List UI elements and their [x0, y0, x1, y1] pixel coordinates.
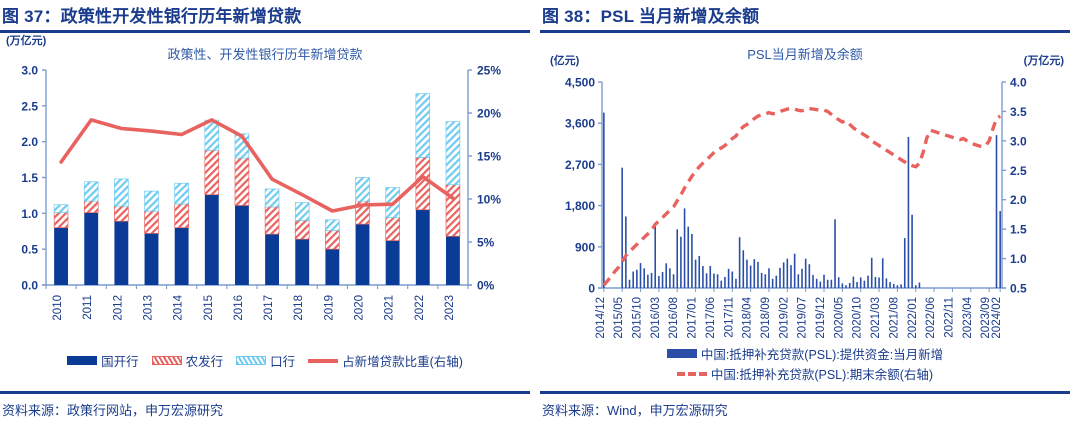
x-tick-label: 2017/01	[687, 297, 699, 339]
bar-psl-monthly	[665, 263, 667, 288]
bar-psl-monthly	[651, 273, 653, 288]
bar-psl-monthly	[687, 227, 689, 288]
bar-nfh	[325, 231, 339, 250]
svg-text:0%: 0%	[477, 279, 495, 293]
bar-gkh	[175, 228, 189, 285]
figure-pair-page: 图 37：政策性开发性银行历年新增贷款 政策性、开发性银行历年新增贷款 (万亿元…	[0, 0, 1080, 425]
bar-psl-monthly	[798, 274, 800, 288]
x-tick-label: 2019	[323, 295, 335, 321]
bar-psl-monthly	[779, 268, 781, 288]
x-tick-label: 2014/12	[595, 297, 607, 339]
figure-37-source: 资料来源：政策行网站，申万宏源研究	[2, 400, 223, 419]
bar-psl-monthly	[643, 268, 645, 288]
bar-kh	[265, 189, 279, 207]
figure-38-chart: PSL当月新增及余额 (亿元) (万亿元) 09001,8002,7003,60…	[540, 30, 1070, 360]
x-tick-label: 2019/07	[797, 297, 809, 339]
line-psl-balance	[604, 109, 1000, 286]
svg-text:0.0: 0.0	[21, 279, 38, 293]
svg-text:3.0: 3.0	[1010, 134, 1027, 148]
bar-kh	[175, 183, 189, 204]
bar-psl-monthly	[757, 262, 759, 288]
svg-text:1.5: 1.5	[1010, 223, 1027, 237]
figure-38-plot: 09001,8002,7003,6004,5000.51.01.52.02.53…	[540, 30, 1070, 360]
x-tick-label: 2012	[112, 295, 124, 321]
bar-psl-monthly	[889, 282, 891, 288]
legend-item: 口行	[236, 351, 295, 370]
bar-psl-monthly	[845, 285, 847, 288]
x-tick-label: 2017	[263, 295, 275, 321]
bar-nfh	[446, 185, 460, 237]
svg-text:3.5: 3.5	[1010, 105, 1027, 119]
bar-psl-monthly	[867, 276, 869, 288]
svg-text:15%: 15%	[477, 150, 501, 164]
bar-psl-monthly	[911, 215, 913, 288]
bar-psl-monthly	[765, 274, 767, 288]
bar-gkh	[205, 195, 219, 285]
bar-psl-monthly	[853, 277, 855, 288]
x-tick-label: 2022/01	[907, 297, 919, 339]
bar-psl-monthly	[820, 282, 822, 288]
bar-psl-monthly	[871, 258, 873, 288]
x-tick-label: 2013	[143, 295, 155, 321]
bar-psl-monthly	[893, 284, 895, 288]
bar-nfh	[84, 201, 98, 212]
x-tick-label: 2020/05	[833, 297, 845, 339]
bar-nfh	[145, 211, 159, 233]
figure-38-legend: 中国:抵押补充贷款(PSL):提供资金:当月新增中国:抵押补充贷款(PSL):期…	[540, 344, 1070, 383]
x-tick-label: 2016	[233, 295, 245, 321]
legend-item: 农发行	[152, 351, 224, 370]
legend-swatch-0	[67, 356, 97, 365]
svg-text:10%: 10%	[477, 193, 501, 207]
bar-psl-monthly	[702, 266, 704, 288]
svg-text:4,500: 4,500	[565, 76, 595, 90]
bar-psl-monthly	[915, 285, 917, 288]
legend-label: 中国:抵押补充贷款(PSL):提供资金:当月新增	[701, 344, 943, 363]
legend-item: 中国:抵押补充贷款(PSL):期末余额(右轴)	[677, 364, 933, 383]
legend-label: 口行	[270, 351, 295, 370]
bar-psl-monthly	[809, 264, 811, 288]
bar-psl-monthly	[753, 259, 755, 288]
x-tick-label: 2015/05	[613, 297, 625, 339]
svg-text:2.5: 2.5	[1010, 164, 1027, 178]
bar-psl-monthly	[882, 258, 884, 288]
bar-nfh	[114, 206, 128, 221]
bar-psl-monthly	[831, 280, 833, 288]
figure-37-chart: 政策性、开发性银行历年新增贷款 (万亿元) 0.00.51.01.52.02.5…	[0, 30, 530, 360]
bar-psl-monthly	[717, 274, 719, 288]
legend-swatch-1	[152, 356, 182, 365]
bar-psl-monthly	[724, 277, 726, 288]
bar-kh	[446, 122, 460, 185]
legend-swatch-3	[308, 359, 338, 363]
bar-psl-monthly	[654, 225, 656, 288]
bar-psl-monthly	[709, 266, 711, 288]
bar-psl-monthly	[640, 263, 642, 288]
bar-gkh	[356, 224, 370, 285]
figure-37-legend: 国开行农发行口行占新增贷款比重(右轴)	[0, 351, 530, 370]
bar-psl-monthly	[728, 269, 730, 288]
bar-psl-monthly	[900, 284, 902, 288]
bar-psl-monthly	[698, 256, 700, 288]
bar-psl-monthly	[684, 208, 686, 288]
bar-psl-monthly	[842, 283, 844, 288]
svg-text:0.5: 0.5	[1010, 282, 1027, 296]
bar-gkh	[325, 249, 339, 285]
x-tick-label: 2016/08	[668, 297, 680, 339]
x-tick-label: 2015/10	[632, 297, 644, 339]
x-tick-label: 2021/03	[870, 297, 882, 339]
legend-swatch-1	[677, 372, 707, 376]
legend-label: 中国:抵押补充贷款(PSL):期末余额(右轴)	[711, 364, 933, 383]
bar-psl-monthly	[629, 280, 631, 288]
bar-psl-monthly	[739, 237, 741, 288]
bar-nfh	[54, 213, 68, 228]
bar-nfh	[295, 221, 309, 240]
bar-gkh	[114, 221, 128, 285]
bar-psl-monthly	[713, 274, 715, 288]
bar-psl-monthly	[768, 268, 770, 288]
bar-psl-monthly	[790, 265, 792, 288]
bar-psl-monthly	[919, 283, 921, 288]
svg-text:4.0: 4.0	[1010, 76, 1027, 90]
svg-text:2.5: 2.5	[21, 99, 38, 113]
bar-psl-monthly	[860, 277, 862, 288]
x-tick-label: 2019/12	[815, 297, 827, 339]
legend-swatch-2	[236, 356, 266, 365]
bar-gkh	[446, 236, 460, 285]
x-tick-label: 2017/06	[705, 297, 717, 339]
bar-psl-monthly	[731, 272, 733, 288]
figure-38-source: 资料来源：Wind，申万宏源研究	[542, 400, 728, 419]
bar-kh	[84, 182, 98, 201]
legend-item: 占新增贷款比重(右轴)	[308, 351, 463, 370]
bar-nfh	[175, 204, 189, 228]
bar-psl-monthly	[875, 277, 877, 288]
bar-psl-monthly	[794, 254, 796, 288]
svg-text:0.5: 0.5	[21, 243, 38, 257]
bar-psl-monthly	[801, 269, 803, 288]
bar-psl-monthly	[676, 229, 678, 288]
bar-psl-monthly	[750, 266, 752, 288]
bar-kh	[205, 120, 219, 150]
bar-psl-monthly	[812, 275, 814, 288]
x-tick-label: 2017/11	[723, 297, 735, 338]
bar-psl-monthly	[680, 237, 682, 288]
bar-kh	[356, 178, 370, 202]
legend-swatch-0	[667, 349, 697, 358]
svg-text:20%: 20%	[477, 107, 501, 121]
x-tick-label: 2024/02	[991, 297, 1003, 339]
x-tick-label: 2020/10	[852, 297, 864, 339]
figure-37-title: 图 37：政策性开发性银行历年新增贷款	[0, 0, 530, 30]
legend-item: 中国:抵押补充贷款(PSL):提供资金:当月新增	[667, 344, 943, 363]
figure-37-panel: 图 37：政策性开发性银行历年新增贷款 政策性、开发性银行历年新增贷款 (万亿元…	[0, 0, 530, 425]
bar-psl-monthly	[999, 211, 1001, 288]
bar-psl-monthly	[816, 279, 818, 288]
bar-psl-monthly	[776, 276, 778, 288]
bar-psl-monthly	[908, 137, 910, 288]
svg-text:1,800: 1,800	[565, 199, 595, 213]
bar-psl-monthly	[735, 279, 737, 288]
bar-gkh	[386, 241, 400, 285]
bar-psl-monthly	[647, 275, 649, 288]
svg-text:1.0: 1.0	[21, 207, 38, 221]
bar-psl-monthly	[669, 268, 671, 288]
bar-psl-monthly	[996, 135, 998, 288]
bar-psl-monthly	[772, 279, 774, 288]
svg-text:900: 900	[575, 240, 595, 254]
legend-label: 国开行	[101, 351, 139, 370]
bar-psl-monthly	[805, 259, 807, 288]
bar-gkh	[265, 234, 279, 285]
bar-psl-monthly	[886, 278, 888, 288]
x-tick-label: 2011	[82, 295, 94, 320]
x-tick-label: 2022/11	[943, 297, 955, 338]
bar-psl-monthly	[746, 260, 748, 288]
bar-psl-monthly	[632, 272, 634, 288]
bar-kh	[325, 220, 339, 231]
bar-nfh	[386, 218, 400, 241]
bar-gkh	[54, 228, 68, 285]
legend-label: 农发行	[186, 351, 224, 370]
svg-text:3,600: 3,600	[565, 117, 595, 131]
bar-kh	[114, 179, 128, 206]
svg-text:1.5: 1.5	[21, 171, 38, 185]
bar-kh	[145, 191, 159, 211]
x-tick-label: 2018	[293, 295, 305, 321]
bar-psl-monthly	[742, 250, 744, 288]
bar-psl-monthly	[878, 277, 880, 288]
x-tick-label: 2010	[52, 295, 64, 321]
bar-psl-monthly	[636, 270, 638, 288]
x-tick-label: 2016/03	[650, 297, 662, 339]
bar-nfh	[205, 150, 219, 194]
bar-gkh	[145, 233, 159, 285]
x-tick-label: 2014	[173, 294, 185, 320]
x-tick-label: 2023	[444, 295, 456, 321]
x-tick-label: 2023/04	[962, 296, 974, 338]
bar-psl-monthly	[823, 275, 825, 288]
x-tick-label: 2018/04	[742, 296, 754, 338]
bar-psl-monthly	[864, 281, 866, 288]
bar-psl-monthly	[904, 238, 906, 288]
figure-38-bottom-rule	[540, 391, 1070, 394]
bar-psl-monthly	[897, 285, 899, 288]
x-tick-label: 2022/06	[925, 297, 937, 339]
bar-gkh	[235, 205, 249, 285]
svg-text:5%: 5%	[477, 236, 495, 250]
bar-kh	[295, 203, 309, 221]
bar-psl-monthly	[849, 283, 851, 288]
x-tick-label: 2022	[414, 295, 426, 321]
bar-psl-monthly	[662, 272, 664, 288]
legend-item: 国开行	[67, 351, 139, 370]
bar-kh	[416, 94, 430, 158]
x-tick-label: 2021	[384, 295, 396, 321]
bar-psl-monthly	[783, 262, 785, 288]
svg-text:0: 0	[588, 282, 595, 296]
bar-nfh	[416, 157, 430, 209]
bar-psl-monthly	[621, 168, 623, 288]
svg-text:25%: 25%	[477, 64, 501, 78]
bar-gkh	[84, 213, 98, 285]
bar-kh	[54, 205, 68, 213]
bar-nfh	[235, 158, 249, 205]
figure-38-panel: 图 38：PSL 当月新增及余额 PSL当月新增及余额 (亿元) (万亿元) 0…	[540, 0, 1070, 425]
figure-38-title: 图 38：PSL 当月新增及余额	[540, 0, 1070, 30]
x-tick-label: 2018/09	[760, 297, 772, 339]
svg-text:2,700: 2,700	[565, 158, 595, 172]
svg-text:2.0: 2.0	[21, 135, 38, 149]
bar-psl-monthly	[834, 219, 836, 288]
bar-psl-monthly	[695, 260, 697, 288]
bar-psl-monthly	[691, 234, 693, 288]
legend-label: 占新增贷款比重(右轴)	[342, 351, 463, 370]
bar-gkh	[295, 239, 309, 285]
svg-text:3.0: 3.0	[21, 64, 38, 78]
bar-psl-monthly	[720, 281, 722, 288]
svg-text:2.0: 2.0	[1010, 193, 1027, 207]
bar-psl-monthly	[787, 259, 789, 288]
figure-37-plot: 0.00.51.01.52.02.53.00%5%10%15%20%25%201…	[0, 30, 530, 360]
bar-psl-monthly	[673, 274, 675, 288]
bar-psl-monthly	[827, 280, 829, 288]
x-tick-label: 2020	[354, 295, 366, 321]
x-tick-label: 2021/08	[888, 297, 900, 339]
x-tick-label: 2019/02	[778, 297, 790, 339]
bar-nfh	[265, 207, 279, 234]
bar-psl-monthly	[603, 113, 605, 288]
figure-37-bottom-rule	[0, 391, 530, 394]
svg-text:1.0: 1.0	[1010, 252, 1027, 266]
bar-psl-monthly	[625, 216, 627, 288]
bar-psl-monthly	[838, 277, 840, 288]
x-tick-label: 2015	[203, 295, 215, 321]
bar-psl-monthly	[658, 276, 660, 288]
bar-psl-monthly	[706, 273, 708, 288]
bar-psl-monthly	[761, 273, 763, 288]
bar-gkh	[416, 210, 430, 285]
bar-psl-monthly	[856, 282, 858, 288]
